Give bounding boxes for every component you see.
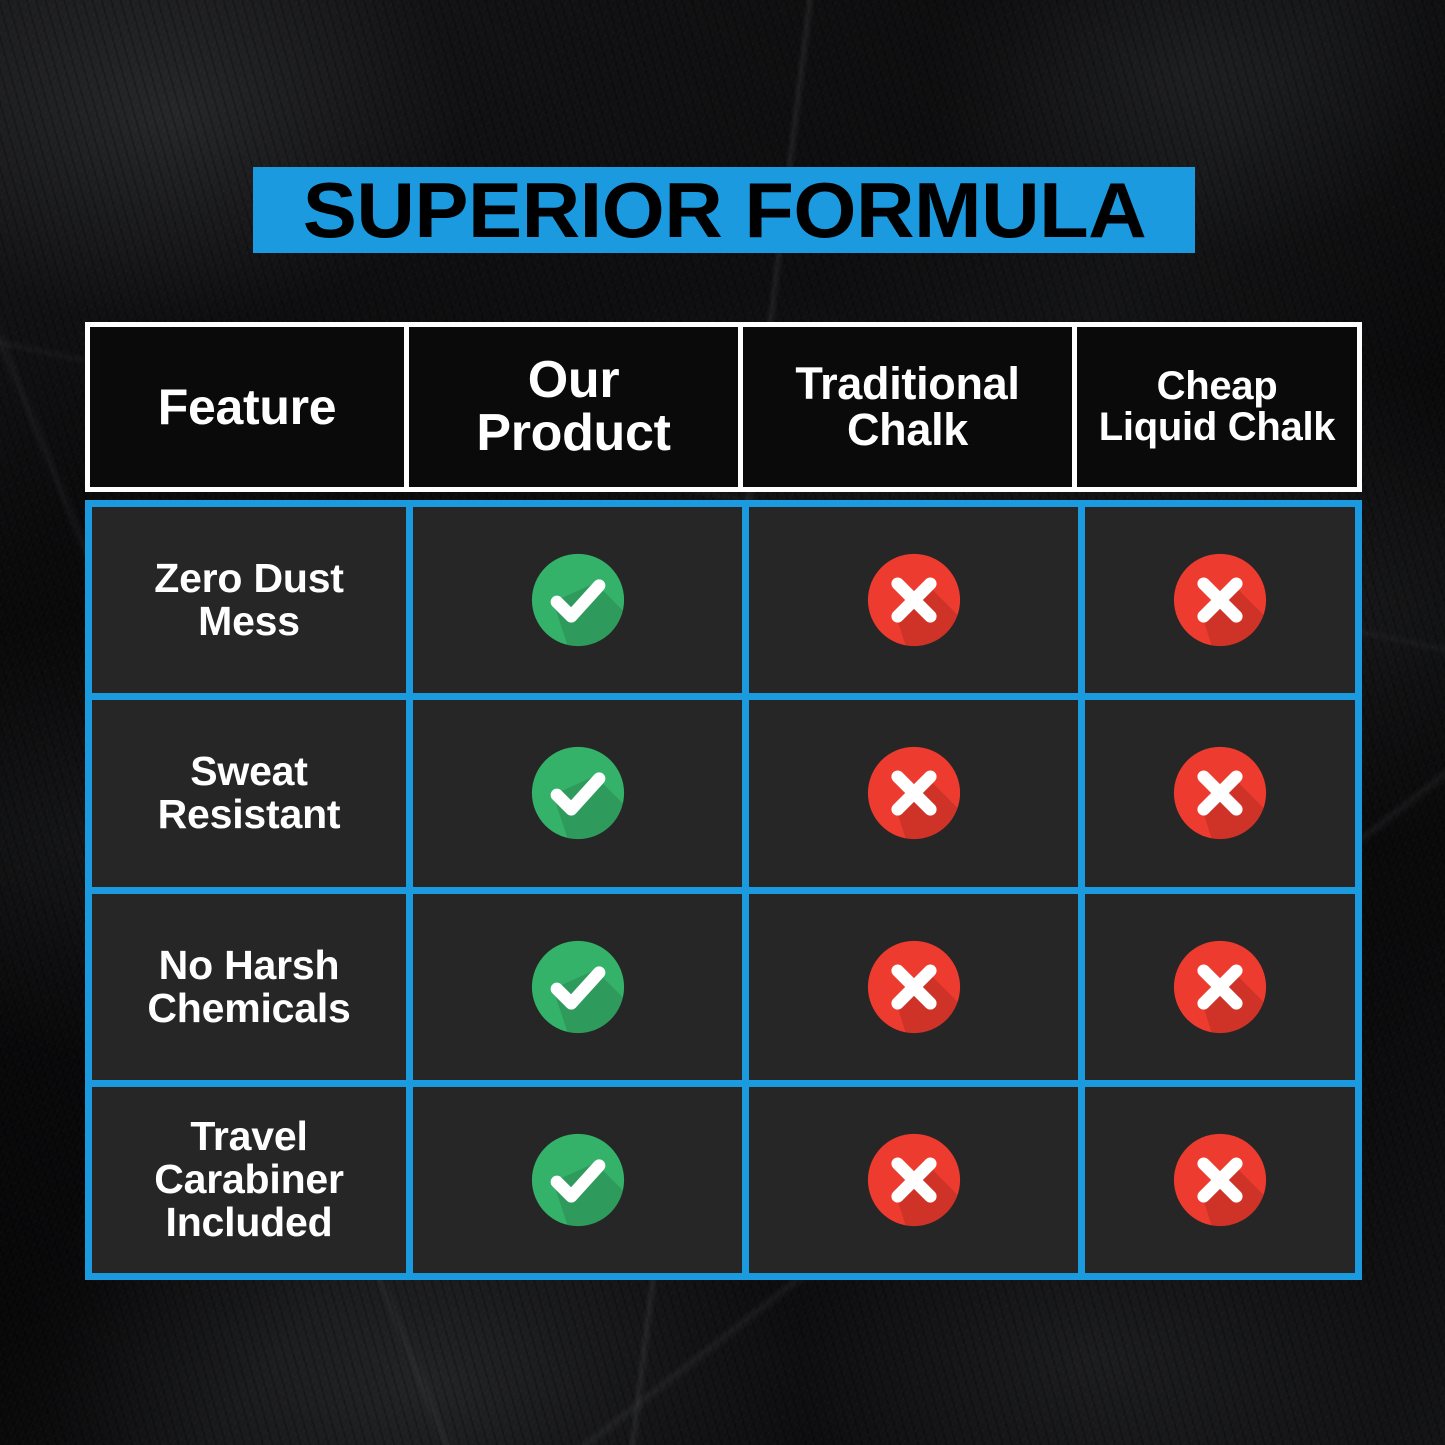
comparison-table-body: Zero DustMess Yes — [85, 500, 1362, 1280]
cross-icon — [866, 745, 962, 841]
cell-traditional-chalk: No — [749, 507, 1078, 693]
title-banner: SUPERIOR FORMULA — [253, 167, 1195, 253]
column-header-cheap-liquid-chalk: CheapLiquid Chalk — [1077, 327, 1357, 487]
cross-icon — [866, 939, 962, 1035]
cell-our-product: Yes — [413, 700, 742, 886]
feature-label: No HarshChemicals — [147, 944, 350, 1030]
cross-icon — [1172, 552, 1268, 648]
column-header-traditional-chalk-label: TraditionalChalk — [795, 361, 1019, 453]
cross-icon — [866, 1132, 962, 1228]
cell-cheap-liquid-chalk: No — [1085, 1087, 1355, 1273]
cross-icon — [1172, 745, 1268, 841]
feature-label: SweatResistant — [158, 750, 341, 836]
cell-traditional-chalk: No — [749, 1087, 1078, 1273]
feature-label: Zero DustMess — [154, 557, 344, 643]
table-row: SweatResistant — [92, 700, 406, 886]
feature-label: TravelCarabinerIncluded — [154, 1115, 344, 1244]
check-icon — [530, 939, 626, 1035]
cell-our-product: Yes — [413, 894, 742, 1080]
column-header-cheap-liquid-chalk-label: CheapLiquid Chalk — [1099, 366, 1335, 448]
cell-cheap-liquid-chalk: No — [1085, 507, 1355, 693]
column-header-feature-label: Feature — [158, 382, 337, 433]
cell-traditional-chalk: No — [749, 700, 1078, 886]
cell-traditional-chalk: No — [749, 894, 1078, 1080]
cell-cheap-liquid-chalk: No — [1085, 700, 1355, 886]
table-row: No HarshChemicals — [92, 894, 406, 1080]
check-icon — [530, 552, 626, 648]
cross-icon — [1172, 939, 1268, 1035]
check-icon — [530, 745, 626, 841]
page-title: SUPERIOR FORMULA — [302, 171, 1145, 249]
comparison-table-header: Feature OurProduct TraditionalChalk Chea… — [85, 322, 1362, 492]
table-row: TravelCarabinerIncluded — [92, 1087, 406, 1273]
check-icon — [530, 1132, 626, 1228]
cell-our-product: Yes — [413, 1087, 742, 1273]
cross-icon — [866, 552, 962, 648]
cross-icon — [1172, 1132, 1268, 1228]
cell-cheap-liquid-chalk: No — [1085, 894, 1355, 1080]
column-header-our-product-label: OurProduct — [476, 354, 670, 460]
column-header-our-product: OurProduct — [409, 327, 738, 487]
column-header-feature: Feature — [90, 327, 404, 487]
table-row: Zero DustMess — [92, 507, 406, 693]
cell-our-product: Yes — [413, 507, 742, 693]
column-header-traditional-chalk: TraditionalChalk — [743, 327, 1072, 487]
